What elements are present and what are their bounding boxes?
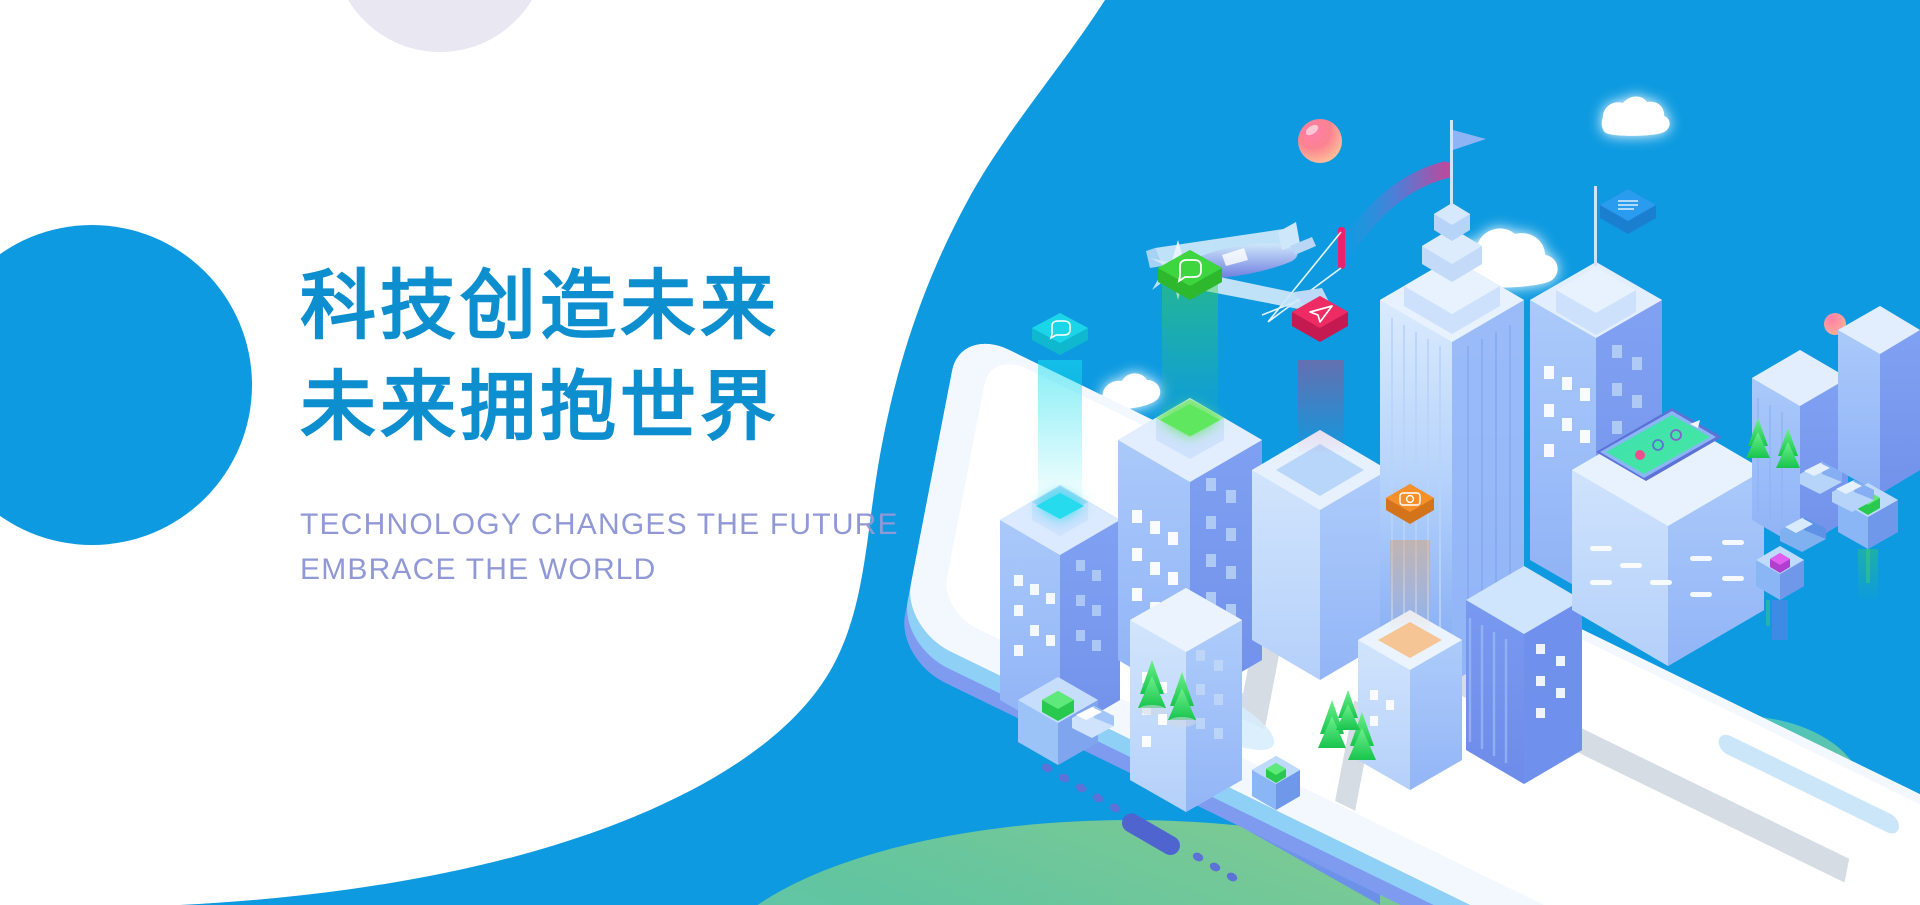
cloud-medium	[1602, 96, 1670, 135]
banner-text-block: 科技创造未来 未来拥抱世界 TECHNOLOGY CHANGES THE FUT…	[300, 255, 920, 592]
subtitle-block: TECHNOLOGY CHANGES THE FUTURE EMBRACE TH…	[300, 502, 920, 592]
building-right-front-striped	[1466, 566, 1582, 784]
news-icon-blue	[1600, 189, 1656, 234]
headline-line-1: 科技创造未来	[300, 255, 920, 356]
subtitle-line-1: TECHNOLOGY CHANGES THE FUTURE	[300, 502, 920, 547]
building-pink-tower	[1252, 296, 1388, 680]
chat-icon-cyan	[1032, 313, 1088, 355]
subtitle-line-2: EMBRACE THE WORLD	[300, 547, 920, 592]
pink-orange-sphere	[1298, 119, 1342, 163]
isometric-city-illustration	[0, 0, 1920, 905]
phone-charging-port	[1119, 810, 1184, 858]
headline-line-2: 未来拥抱世界	[300, 356, 920, 457]
banner-stage: 科技创造未来 未来拥抱世界 TECHNOLOGY CHANGES THE FUT…	[0, 0, 1920, 905]
building-far-right	[1752, 350, 1848, 548]
building-far-right-2	[1838, 306, 1920, 494]
